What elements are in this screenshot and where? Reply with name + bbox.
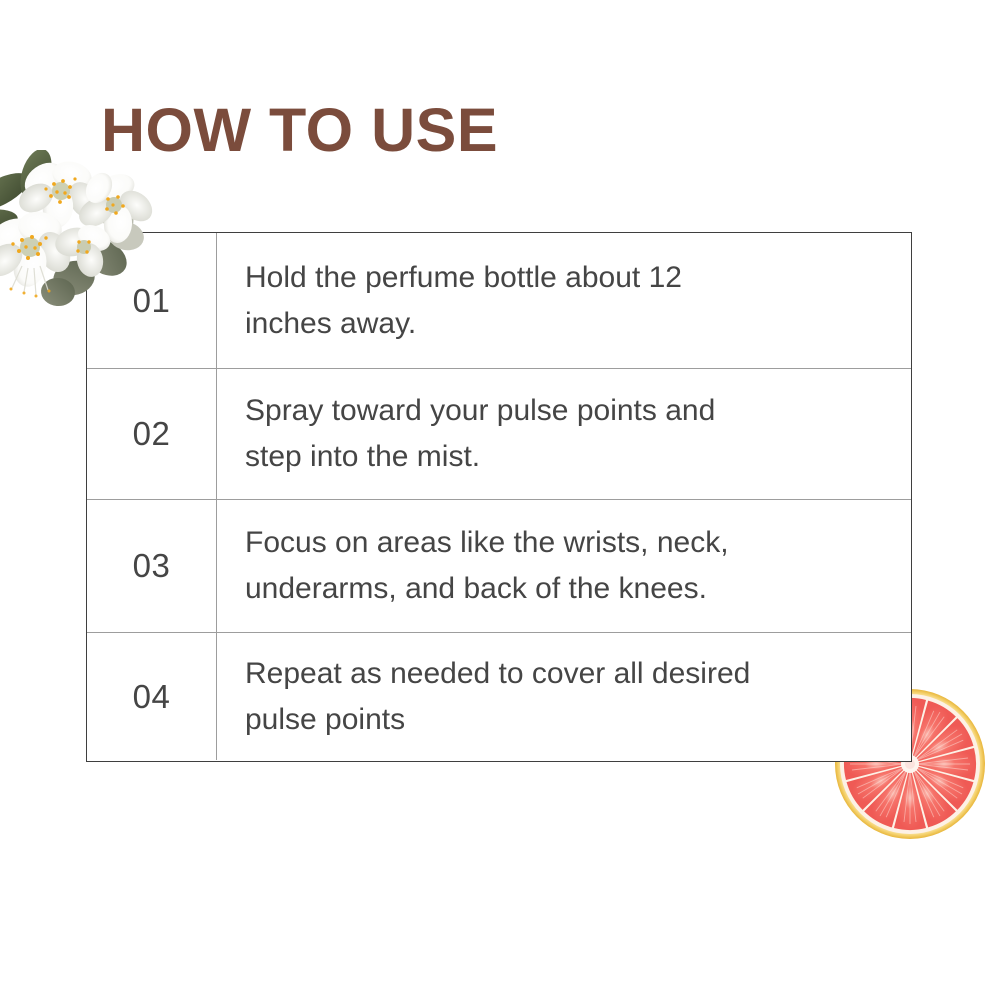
step-instruction-line: inches away. <box>245 301 682 347</box>
step-number: 03 <box>87 500 217 632</box>
step-instruction-line: underarms, and back of the knees. <box>245 566 729 612</box>
step-instruction: Hold the perfume bottle about 12 inches … <box>217 233 911 368</box>
step-instruction: Spray toward your pulse points and step … <box>217 369 911 499</box>
step-instruction-line: Hold the perfume bottle about 12 <box>245 255 682 301</box>
table-row: 03 Focus on areas like the wrists, neck,… <box>87 500 911 633</box>
step-instruction: Focus on areas like the wrists, neck, un… <box>217 500 911 632</box>
step-instruction-line: Repeat as needed to cover all desired <box>245 651 750 697</box>
table-row: 02 Spray toward your pulse points and st… <box>87 369 911 500</box>
table-row: 04 Repeat as needed to cover all desired… <box>87 633 911 760</box>
step-instruction-line: step into the mist. <box>245 434 715 480</box>
step-instruction-line: Focus on areas like the wrists, neck, <box>245 520 729 566</box>
step-instruction-line: pulse points <box>245 697 750 743</box>
step-instruction: Repeat as needed to cover all desired pu… <box>217 633 911 760</box>
slide-canvas: HOW TO USE <box>0 0 1000 1000</box>
steps-table: 01 Hold the perfume bottle about 12 inch… <box>86 232 912 762</box>
page-title: HOW TO USE <box>101 100 498 161</box>
step-number: 04 <box>87 633 217 760</box>
step-number: 02 <box>87 369 217 499</box>
step-instruction-line: Spray toward your pulse points and <box>245 388 715 434</box>
table-row: 01 Hold the perfume bottle about 12 inch… <box>87 233 911 369</box>
step-number: 01 <box>87 233 217 368</box>
